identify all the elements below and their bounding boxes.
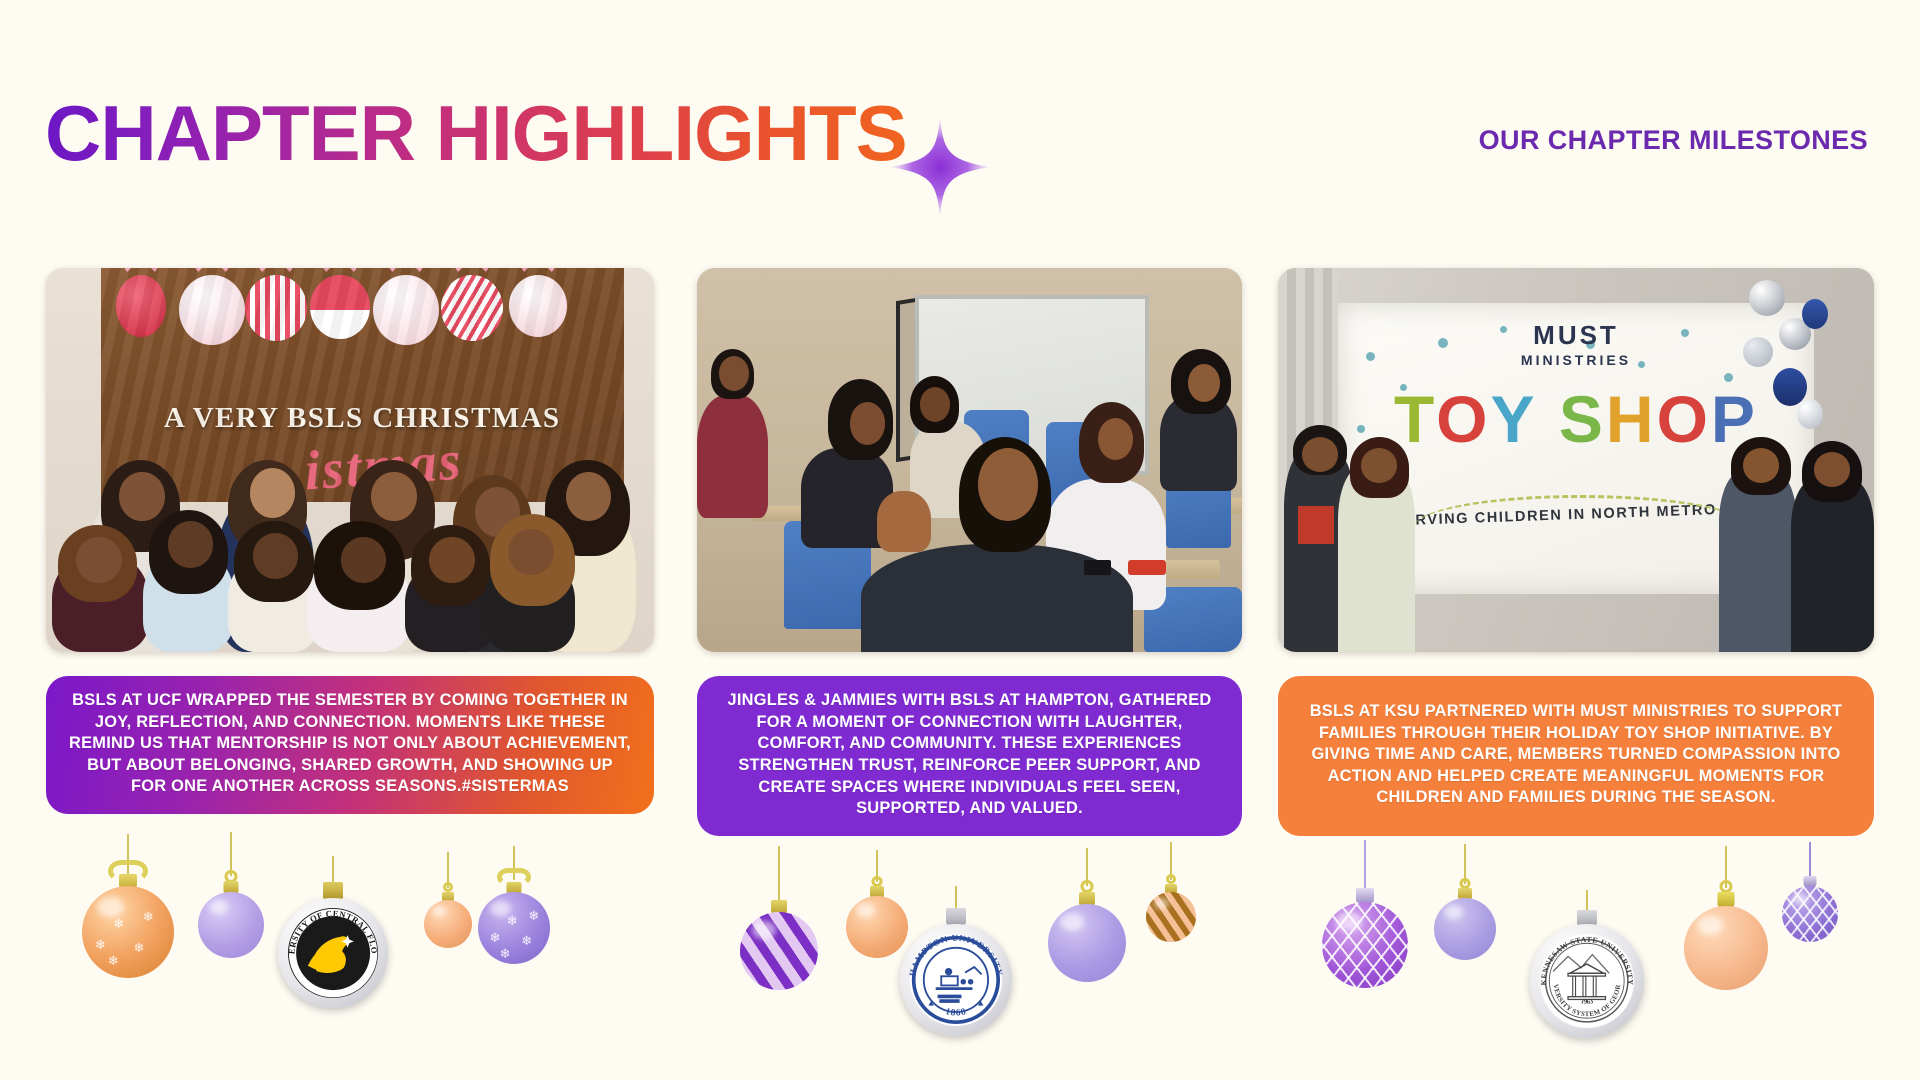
photo1-banner-title: A VERY BSLS CHRISTMAS (101, 402, 624, 435)
svg-text:1963: 1963 (1580, 998, 1595, 1006)
header-eyebrow: OUR CHAPTER MILESTONES (1479, 125, 1868, 156)
highlight-card-hampton[interactable]: JINGLES & JAMMIES WITH BSLS AT HAMPTON, … (697, 268, 1242, 836)
ksu-seal-outer-text: KENNESAW STATE UNIVERSITY (1539, 935, 1635, 986)
ksu-seal-year: 1963 (1580, 998, 1595, 1006)
highlight-card-ksu[interactable]: MUST MINISTRIES TOY SHOP SERVING CHILDRE… (1278, 268, 1874, 836)
card-caption-ksu: BSLS AT KSU PARTNERED WITH MUST MINISTRI… (1278, 676, 1874, 836)
ucf-seal-year: 1963 (322, 981, 344, 991)
card-caption-hampton: JINGLES & JAMMIES WITH BSLS AT HAMPTON, … (697, 676, 1242, 836)
sparkle-star-icon (885, 112, 995, 222)
svg-text:1963: 1963 (322, 981, 344, 991)
svg-text:UNIVERSITY OF CENTRAL FLORIDA: UNIVERSITY OF CENTRAL FLORIDA (278, 898, 380, 955)
svg-text:KENNESAW STATE UNIVERSITY: KENNESAW STATE UNIVERSITY (1539, 935, 1635, 986)
ucf-seal-outer-text: UNIVERSITY OF CENTRAL FLORIDA (278, 898, 380, 955)
page-header: CHAPTER HIGHLIGHTS OUR CHAPTER MILESTONE… (0, 0, 1920, 210)
highlight-card-ucf[interactable]: A VERY BSLS CHRISTMAS istmas (46, 268, 654, 814)
photo-toy-shop[interactable]: MUST MINISTRIES TOY SHOP SERVING CHILDRE… (1278, 268, 1874, 652)
svg-text:HAMPTON UNIVERSITY: HAMPTON UNIVERSITY (907, 933, 1004, 977)
hampton-seal-outer-text: HAMPTON UNIVERSITY (907, 933, 1004, 977)
svg-text:1868: 1868 (944, 1007, 968, 1019)
svg-text:UNIVERSITY SYSTEM OF GEORGIA: UNIVERSITY SYSTEM OF GEORGIA (1530, 924, 1622, 1018)
ksu-seal-inner-text: UNIVERSITY SYSTEM OF GEORGIA (1530, 924, 1622, 1018)
photo-bsls-christmas[interactable]: A VERY BSLS CHRISTMAS istmas (46, 268, 654, 652)
photo-classroom-jingles-jammies[interactable] (697, 268, 1242, 652)
page-title: CHAPTER HIGHLIGHTS (45, 94, 907, 172)
card-caption-ucf: BSLS AT UCF WRAPPED THE SEMESTER BY COMI… (46, 676, 654, 814)
hampton-seal-year: 1868 (944, 1007, 968, 1019)
